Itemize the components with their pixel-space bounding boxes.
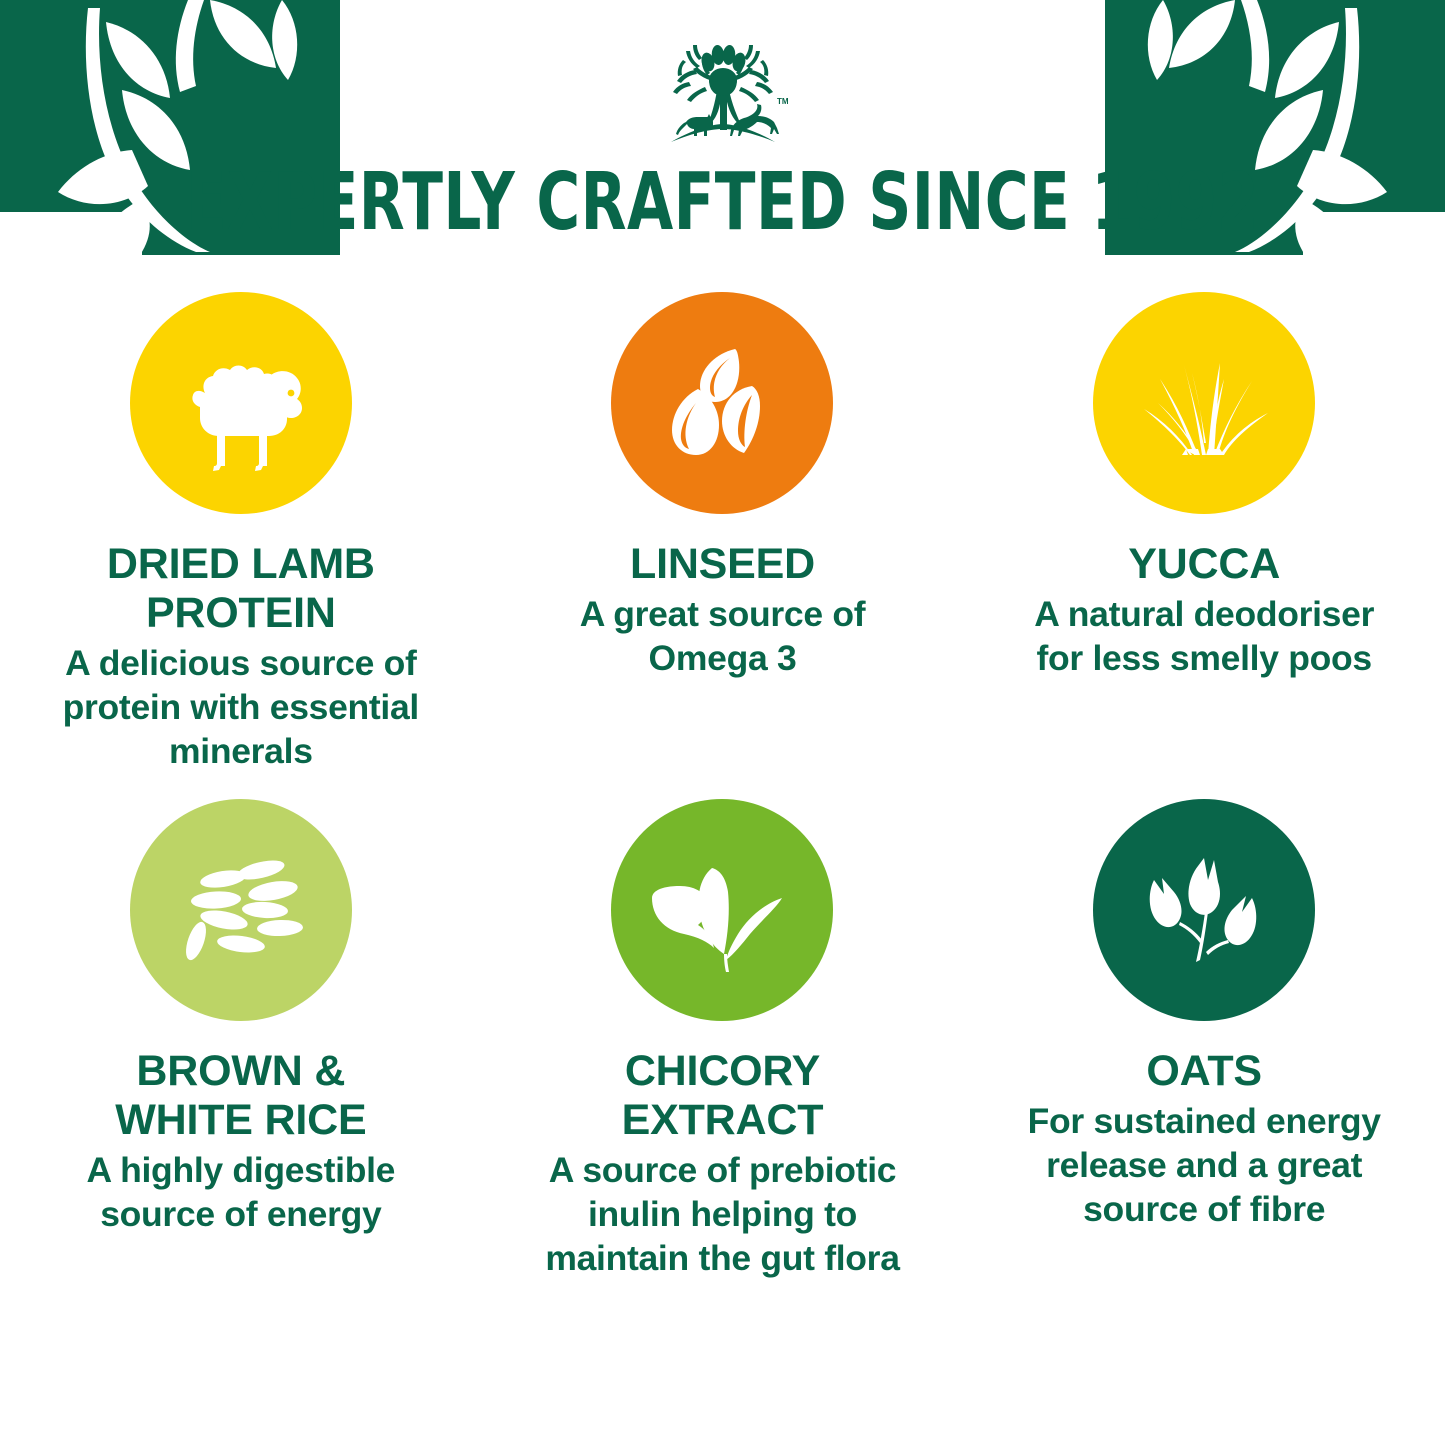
oat-grains-icon <box>1093 799 1315 1021</box>
ingredient-description: For sustained energy release and a great… <box>994 1099 1414 1231</box>
ingredient-title-line1: CHICORY <box>622 1047 824 1096</box>
ingredient-card-chicory-extract: CHICORY EXTRACT A source of prebiotic in… <box>482 799 964 1280</box>
ingredient-title: OATS <box>1146 1047 1261 1096</box>
ingredient-title-line2: EXTRACT <box>622 1096 824 1145</box>
rice-grains-icon <box>130 799 352 1021</box>
sheep-icon <box>130 292 352 514</box>
ingredient-title-line1: YUCCA <box>1128 540 1280 589</box>
ingredient-title-line1: LINSEED <box>630 540 815 589</box>
trademark-symbol: TM <box>777 97 789 106</box>
ingredient-title: LINSEED <box>630 540 815 589</box>
page-title: EXPERTLY CRAFTED SINCE 1992 <box>116 160 1330 244</box>
ingredient-description: A delicious source of protein with essen… <box>61 641 421 773</box>
ingredient-title-line1: DRIED LAMB <box>107 540 375 589</box>
ingredient-title-line2: WHITE RICE <box>115 1096 366 1145</box>
ingredient-title: BROWN & WHITE RICE <box>115 1047 366 1145</box>
ingredient-title: CHICORY EXTRACT <box>622 1047 824 1145</box>
yucca-plant-icon <box>1093 292 1315 514</box>
ingredients-grid: DRIED LAMB PROTEIN A delicious source of… <box>0 272 1445 1280</box>
ingredient-card-linseed: LINSEED A great source of Omega 3 <box>482 292 964 773</box>
ingredient-description: A source of prebiotic inulin helping to … <box>512 1148 932 1280</box>
ingredient-card-brown-and-white-rice: BROWN & WHITE RICE A highly digestible s… <box>0 799 482 1280</box>
tree-with-paw-print-logo: TM <box>653 42 793 154</box>
ingredient-title: YUCCA <box>1128 540 1280 589</box>
ingredient-card-dried-lamb-protein: DRIED LAMB PROTEIN A delicious source of… <box>0 292 482 773</box>
ingredient-title-line1: OATS <box>1146 1047 1261 1096</box>
ingredient-card-yucca: YUCCA A natural deodoriser for less smel… <box>963 292 1445 773</box>
page-header: TM EXPERTLY CRAFTED SINCE 1992 <box>0 0 1445 272</box>
ingredient-title-line1: BROWN & <box>115 1047 366 1096</box>
ingredient-description: A highly digestible source of energy <box>56 1148 426 1236</box>
chicory-leaves-icon <box>611 799 833 1021</box>
ingredient-title-line2: PROTEIN <box>107 589 375 638</box>
ingredient-card-oats: OATS For sustained energy release and a … <box>963 799 1445 1280</box>
ingredient-description: A great source of Omega 3 <box>567 592 877 680</box>
ingredient-title: DRIED LAMB PROTEIN <box>107 540 375 638</box>
linseed-seeds-icon <box>611 292 833 514</box>
ingredient-description: A natural deodoriser for less smelly poo… <box>1034 592 1374 680</box>
